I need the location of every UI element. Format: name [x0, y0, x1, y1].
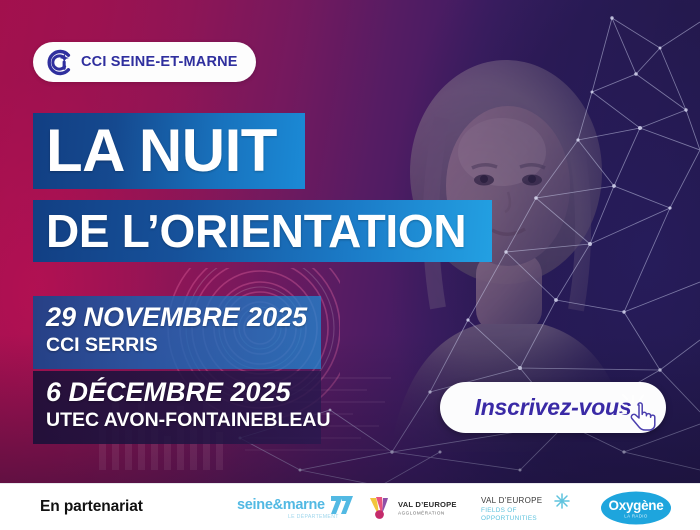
title-line2: DE L’ORIENTATION: [46, 208, 466, 254]
title-band-line2: DE L’ORIENTATION: [33, 200, 492, 262]
val-deurope-fields-logo-icon: VAL D’EUROPE FIELDS OF OPPORTUNITIES: [480, 492, 580, 524]
svg-text:seine&marne: seine&marne: [237, 497, 325, 513]
svg-text:LA RADIO: LA RADIO: [624, 514, 648, 519]
event-date-1: 29 NOVEMBRE 2025: [46, 302, 305, 332]
svg-text:Oxygène: Oxygène: [609, 498, 665, 513]
partners-label: En partenariat: [40, 498, 143, 516]
event-date-2: 6 DÉCEMBRE 2025: [46, 377, 305, 407]
partner-logo-seine-et-marne[interactable]: seine&marne LE DÉPARTEMENT: [236, 492, 354, 524]
organizer-name: CCI SEINE-ET-MARNE: [81, 54, 238, 70]
val-deurope-agglo-logo-icon: VAL D’EUROPE AGGLOMÉRATION: [366, 495, 470, 521]
svg-text:VAL D’EUROPE: VAL D’EUROPE: [398, 500, 457, 509]
cci-circle-logo-icon: [45, 49, 72, 76]
event-venue-1: CCI SERRIS: [46, 334, 305, 356]
register-button[interactable]: Inscrivez-vous: [440, 382, 666, 433]
svg-text:VAL D’EUROPE: VAL D’EUROPE: [481, 496, 542, 505]
seine-et-marne-logo-icon: seine&marne LE DÉPARTEMENT: [236, 492, 354, 524]
svg-text:OPPORTUNITIES: OPPORTUNITIES: [481, 515, 537, 522]
partner-logo-val-deurope-agglomeration[interactable]: VAL D’EUROPE AGGLOMÉRATION: [366, 495, 470, 521]
title-line1: LA NUIT: [46, 121, 277, 181]
hand-click-cursor-icon: [619, 393, 663, 437]
event-date-block-2: 6 DÉCEMBRE 2025 UTEC AVON-FONTAINEBLEAU: [33, 371, 321, 444]
partner-logo-oxygene[interactable]: Oxygène LA RADIO: [600, 490, 672, 526]
svg-text:FIELDS OF: FIELDS OF: [481, 507, 517, 514]
event-venue-2: UTEC AVON-FONTAINEBLEAU: [46, 409, 305, 431]
oxygene-logo-icon: Oxygène LA RADIO: [600, 490, 672, 526]
event-poster: CCI SEINE-ET-MARNE LA NUIT DE L’ORIENTAT…: [0, 0, 700, 530]
svg-text:LE DÉPARTEMENT: LE DÉPARTEMENT: [288, 513, 339, 520]
register-button-label: Inscrivez-vous: [475, 394, 632, 421]
organizer-logo-badge[interactable]: CCI SEINE-ET-MARNE: [33, 42, 256, 82]
partners-footer: En partenariat seine&marne LE DÉPARTEMEN…: [0, 483, 700, 530]
svg-text:AGGLOMÉRATION: AGGLOMÉRATION: [398, 510, 445, 516]
event-date-block-1: 29 NOVEMBRE 2025 CCI SERRIS: [33, 296, 321, 369]
title-band-line1: LA NUIT: [33, 113, 305, 189]
partner-logo-val-deurope-fields[interactable]: VAL D’EUROPE FIELDS OF OPPORTUNITIES: [480, 492, 580, 524]
